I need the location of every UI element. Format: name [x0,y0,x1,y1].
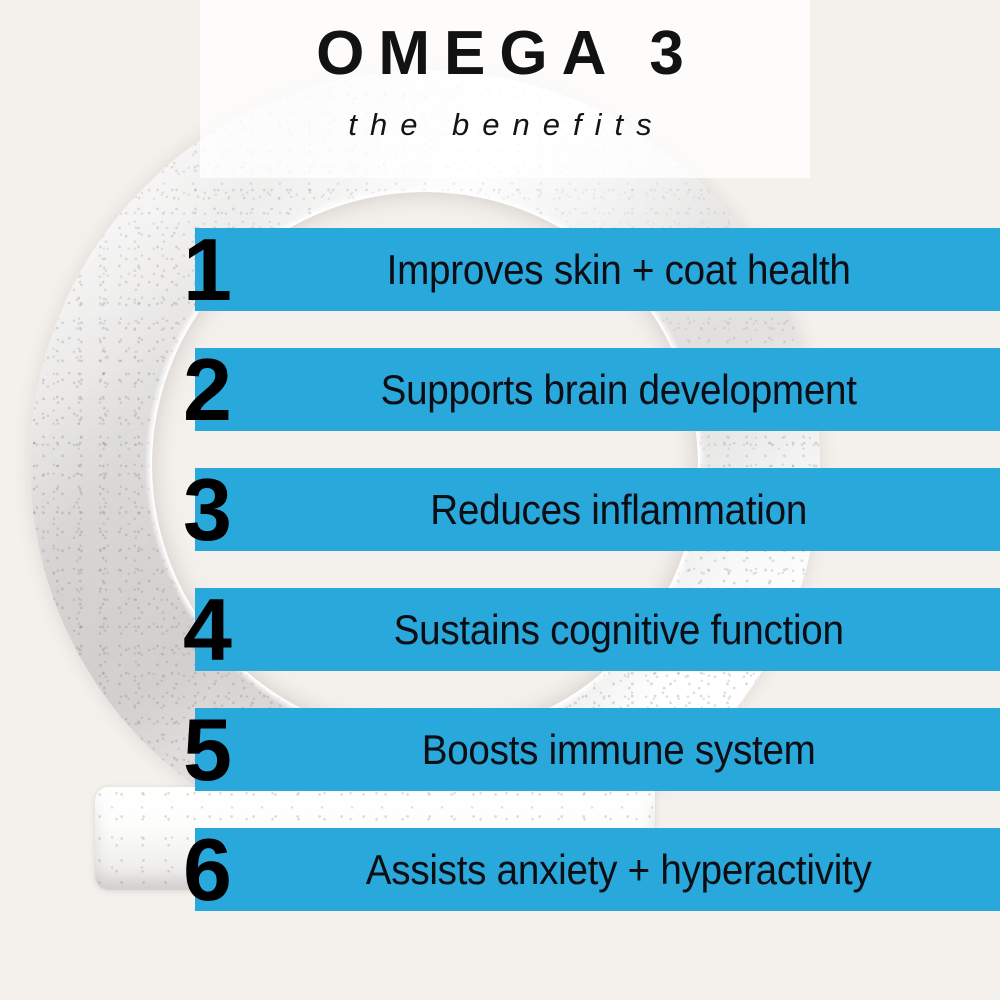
benefit-row-4: 4 Sustains cognitive function [0,588,1000,671]
benefit-row-6: 6 Assists anxiety + hyperactivity [0,828,1000,911]
benefits-list: 1 Improves skin + coat health 2 Supports… [0,228,1000,911]
page-subtitle: the benefits [0,107,1000,143]
benefit-row-3: 3 Reduces inflammation [0,468,1000,551]
benefit-number: 5 [183,706,230,794]
poster-header: OMEGA 3 the benefits [0,0,1000,143]
omega-3-benefits-poster: OMEGA 3 the benefits 1 Improves skin + c… [0,0,1000,1000]
benefit-number: 1 [183,226,230,314]
benefit-label: Sustains cognitive function [227,588,968,671]
benefit-label: Reduces inflammation [227,468,968,551]
benefit-label: Improves skin + coat health [227,228,968,311]
benefit-number: 3 [183,466,230,554]
benefit-label: Assists anxiety + hyperactivity [227,828,968,911]
benefit-number: 4 [183,586,230,674]
benefit-number: 6 [183,826,230,914]
benefit-row-5: 5 Boosts immune system [0,708,1000,791]
benefit-row-1: 1 Improves skin + coat health [0,228,1000,311]
benefit-label: Supports brain development [227,348,968,431]
benefit-number: 2 [183,346,230,434]
benefit-row-2: 2 Supports brain development [0,348,1000,431]
page-title: OMEGA 3 [0,22,1000,85]
benefit-label: Boosts immune system [227,708,968,791]
